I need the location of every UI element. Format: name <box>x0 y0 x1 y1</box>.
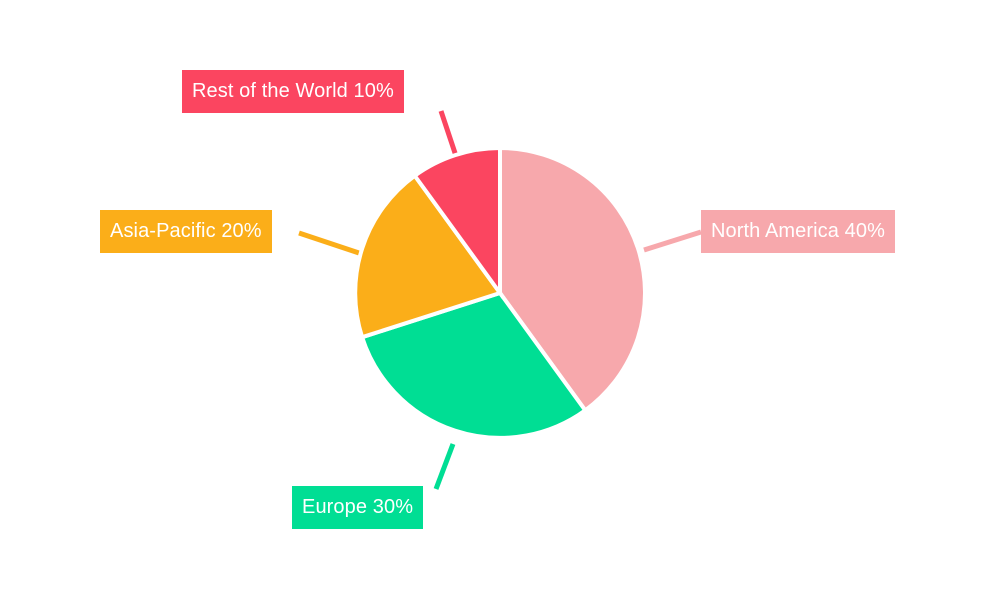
pie-slices <box>355 148 645 438</box>
leader-line-north-america <box>644 232 701 250</box>
pie-label-europe: Europe 30% <box>292 486 423 529</box>
pie-label-north-america: North America 40% <box>701 210 895 253</box>
leader-line-rest-of-world <box>441 111 456 156</box>
pie-label-rest-of-world: Rest of the World 10% <box>182 70 404 113</box>
leader-line-asia-pacific <box>299 233 359 253</box>
pie-label-asia-pacific: Asia-Pacific 20% <box>100 210 272 253</box>
pie-chart-canvas <box>0 0 1000 600</box>
leader-line-europe <box>436 444 453 489</box>
pie-chart-figure: North America 40% Europe 30% Asia-Pacifi… <box>0 0 1000 600</box>
